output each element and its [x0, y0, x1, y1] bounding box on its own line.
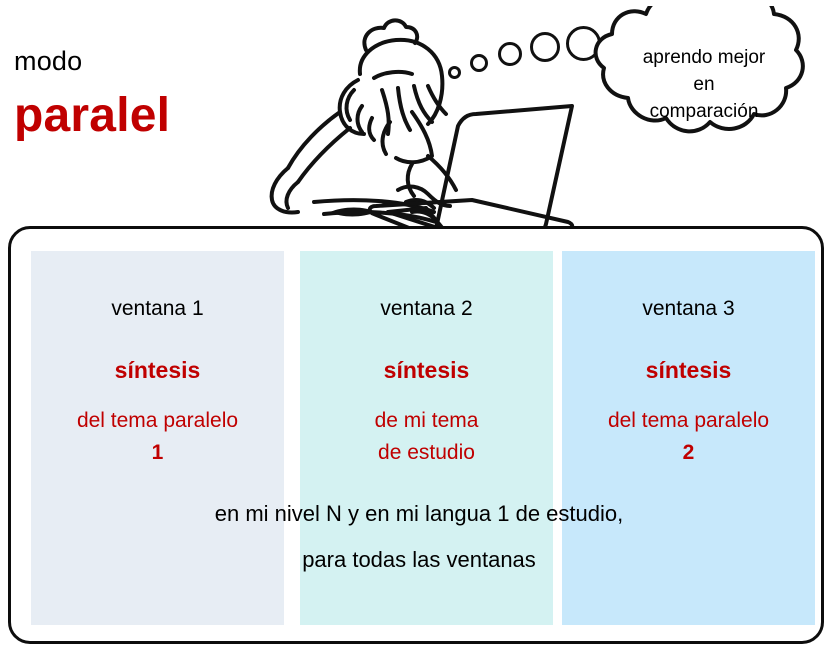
window-column-3-title: ventana 3 [562, 297, 815, 321]
window-column-1-description: del tema paralelo 1 [31, 405, 284, 469]
window-column-3-desc-line-2: 2 [562, 437, 815, 469]
window-column-2-synthesis: síntesis [300, 357, 553, 384]
window-column-1-desc-line-1: del tema paralelo [77, 409, 238, 432]
thought-dot-4 [530, 32, 560, 62]
thought-cloud-line-2: en [612, 71, 796, 98]
window-column-3-synthesis: síntesis [562, 357, 815, 384]
window-column-2-title: ventana 2 [300, 297, 553, 321]
window-column-1-synthesis: síntesis [31, 357, 284, 384]
window-column-2-desc-line-1: de mi tema [375, 409, 479, 432]
panel-caption-line-1: en mi nivel N y en mi langua 1 de estudi… [11, 491, 827, 537]
header-area: modo paralel [0, 0, 834, 225]
thought-cloud-line-1: aprendo mejor [612, 44, 796, 71]
mode-name-title: paralel [14, 92, 170, 140]
window-column-1-desc-line-2: 1 [31, 437, 284, 469]
window-column-1-title: ventana 1 [31, 297, 284, 321]
window-column-2-description: de mi tema de estudio [300, 405, 553, 469]
thought-cloud-text: aprendo mejor en comparación [612, 44, 796, 125]
thought-cloud-line-3: comparación [612, 98, 796, 125]
thought-dot-2 [470, 54, 488, 72]
thought-dot-1 [448, 66, 461, 79]
window-column-3-desc-line-1: del tema paralelo [608, 409, 769, 432]
thought-dot-3 [498, 42, 522, 66]
mode-label: modo [14, 48, 82, 75]
panel-caption: en mi nivel N y en mi langua 1 de estudi… [11, 491, 827, 583]
panel-caption-line-2: para todas las ventanas [11, 537, 827, 583]
windows-panel: ventana 1 síntesis del tema paralelo 1 v… [8, 226, 824, 644]
window-column-2-desc-line-2: de estudio [378, 441, 475, 464]
window-column-3-description: del tema paralelo 2 [562, 405, 815, 469]
